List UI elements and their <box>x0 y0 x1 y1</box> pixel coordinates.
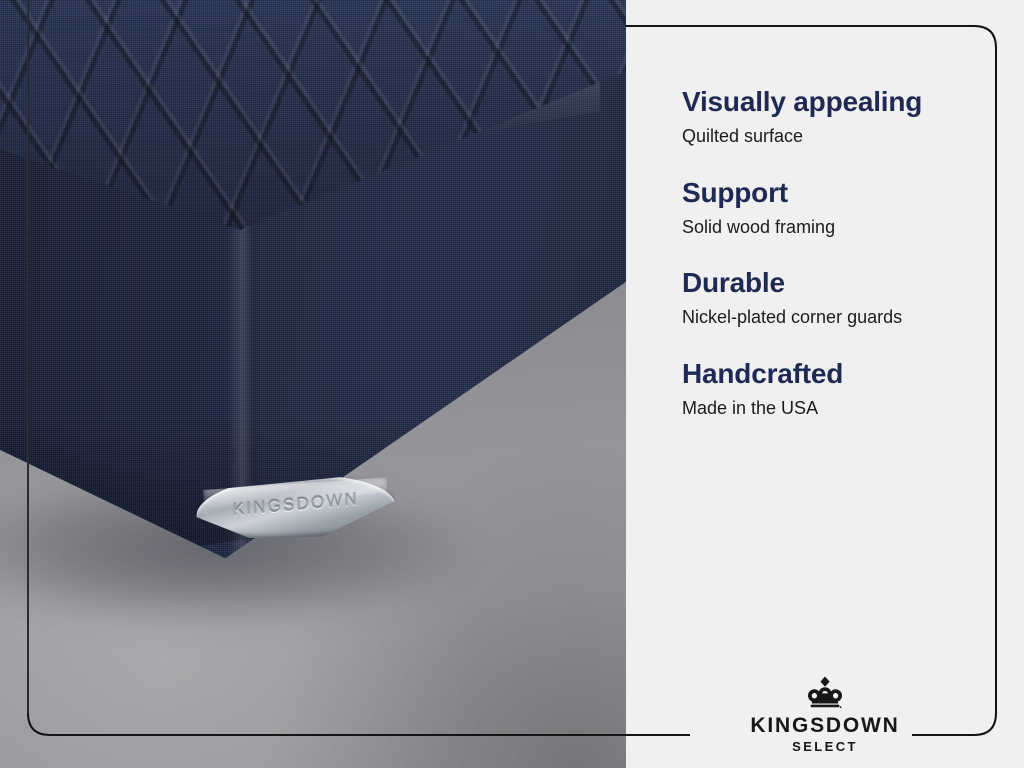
feature-item: Durable Nickel-plated corner guards <box>682 267 982 330</box>
product-photo: KINGSDOWN <box>0 0 626 768</box>
feature-description: Solid wood framing <box>682 216 982 240</box>
feature-title: Support <box>682 177 982 209</box>
feature-title: Visually appealing <box>682 86 982 118</box>
feature-item: Visually appealing Quilted surface <box>682 86 982 149</box>
feature-item: Support Solid wood framing <box>682 177 982 240</box>
feature-panel: Visually appealing Quilted surface Suppo… <box>626 0 1024 768</box>
product-feature-graphic: KINGSDOWN Visually appealing Quilted sur… <box>0 0 1024 768</box>
feature-item: Handcrafted Made in the USA <box>682 358 982 421</box>
brand-lockup: KINGSDOWN SELECT <box>626 676 1024 755</box>
feature-description: Quilted surface <box>682 125 982 149</box>
brand-sub-name: SELECT <box>626 739 1024 755</box>
feature-description: Nickel-plated corner guards <box>682 306 982 330</box>
feature-title: Handcrafted <box>682 358 982 390</box>
feature-list: Visually appealing Quilted surface Suppo… <box>682 86 982 421</box>
nickel-corner-guard: KINGSDOWN <box>195 471 398 543</box>
feature-description: Made in the USA <box>682 397 982 421</box>
feature-title: Durable <box>682 267 982 299</box>
brand-name-row: KINGSDOWN <box>626 714 1024 737</box>
brand-name: KINGSDOWN <box>738 714 911 737</box>
crown-icon <box>802 676 848 710</box>
